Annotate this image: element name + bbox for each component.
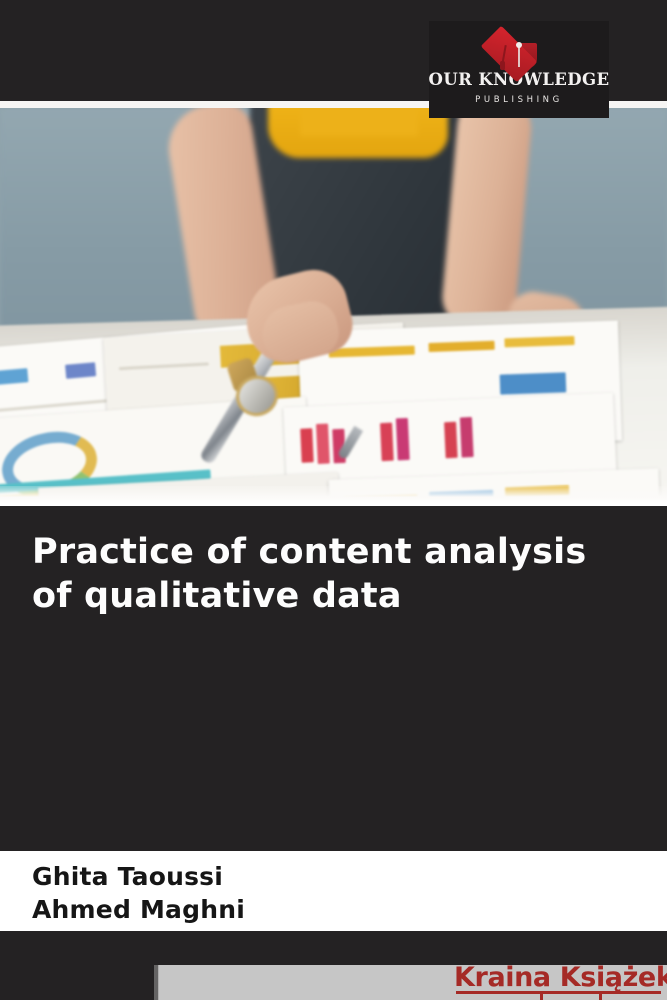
cap-tassel-end <box>500 61 505 70</box>
cap-stem <box>518 45 520 67</box>
book-title: Practice of content analysis of qualitat… <box>32 530 592 618</box>
barcode-panel-shadow <box>154 965 159 1000</box>
authors-strip: Ghita Taoussi Ahmed Maghni <box>0 851 667 931</box>
pen-tip <box>337 426 363 460</box>
book-cover: OUR KNOWLEDGE PUBLISHING <box>0 0 667 1000</box>
photo-bottom-edge <box>0 486 667 506</box>
photo-hand-layer <box>0 108 667 506</box>
graduation-cap-icon <box>482 27 556 71</box>
publisher-logo-banner: OUR KNOWLEDGE PUBLISHING <box>429 21 609 118</box>
author-names: Ghita Taoussi Ahmed Maghni <box>32 860 245 926</box>
cap-button <box>516 42 522 48</box>
publisher-subtitle: PUBLISHING <box>475 95 563 105</box>
watermark: Kraina Książek <box>448 962 667 1000</box>
author-name: Ahmed Maghni <box>32 893 245 926</box>
open-book-icon <box>540 992 602 1000</box>
watermark-text: Kraina Książek <box>454 962 667 993</box>
author-name: Ghita Taoussi <box>32 860 245 893</box>
cover-photo <box>0 108 667 506</box>
